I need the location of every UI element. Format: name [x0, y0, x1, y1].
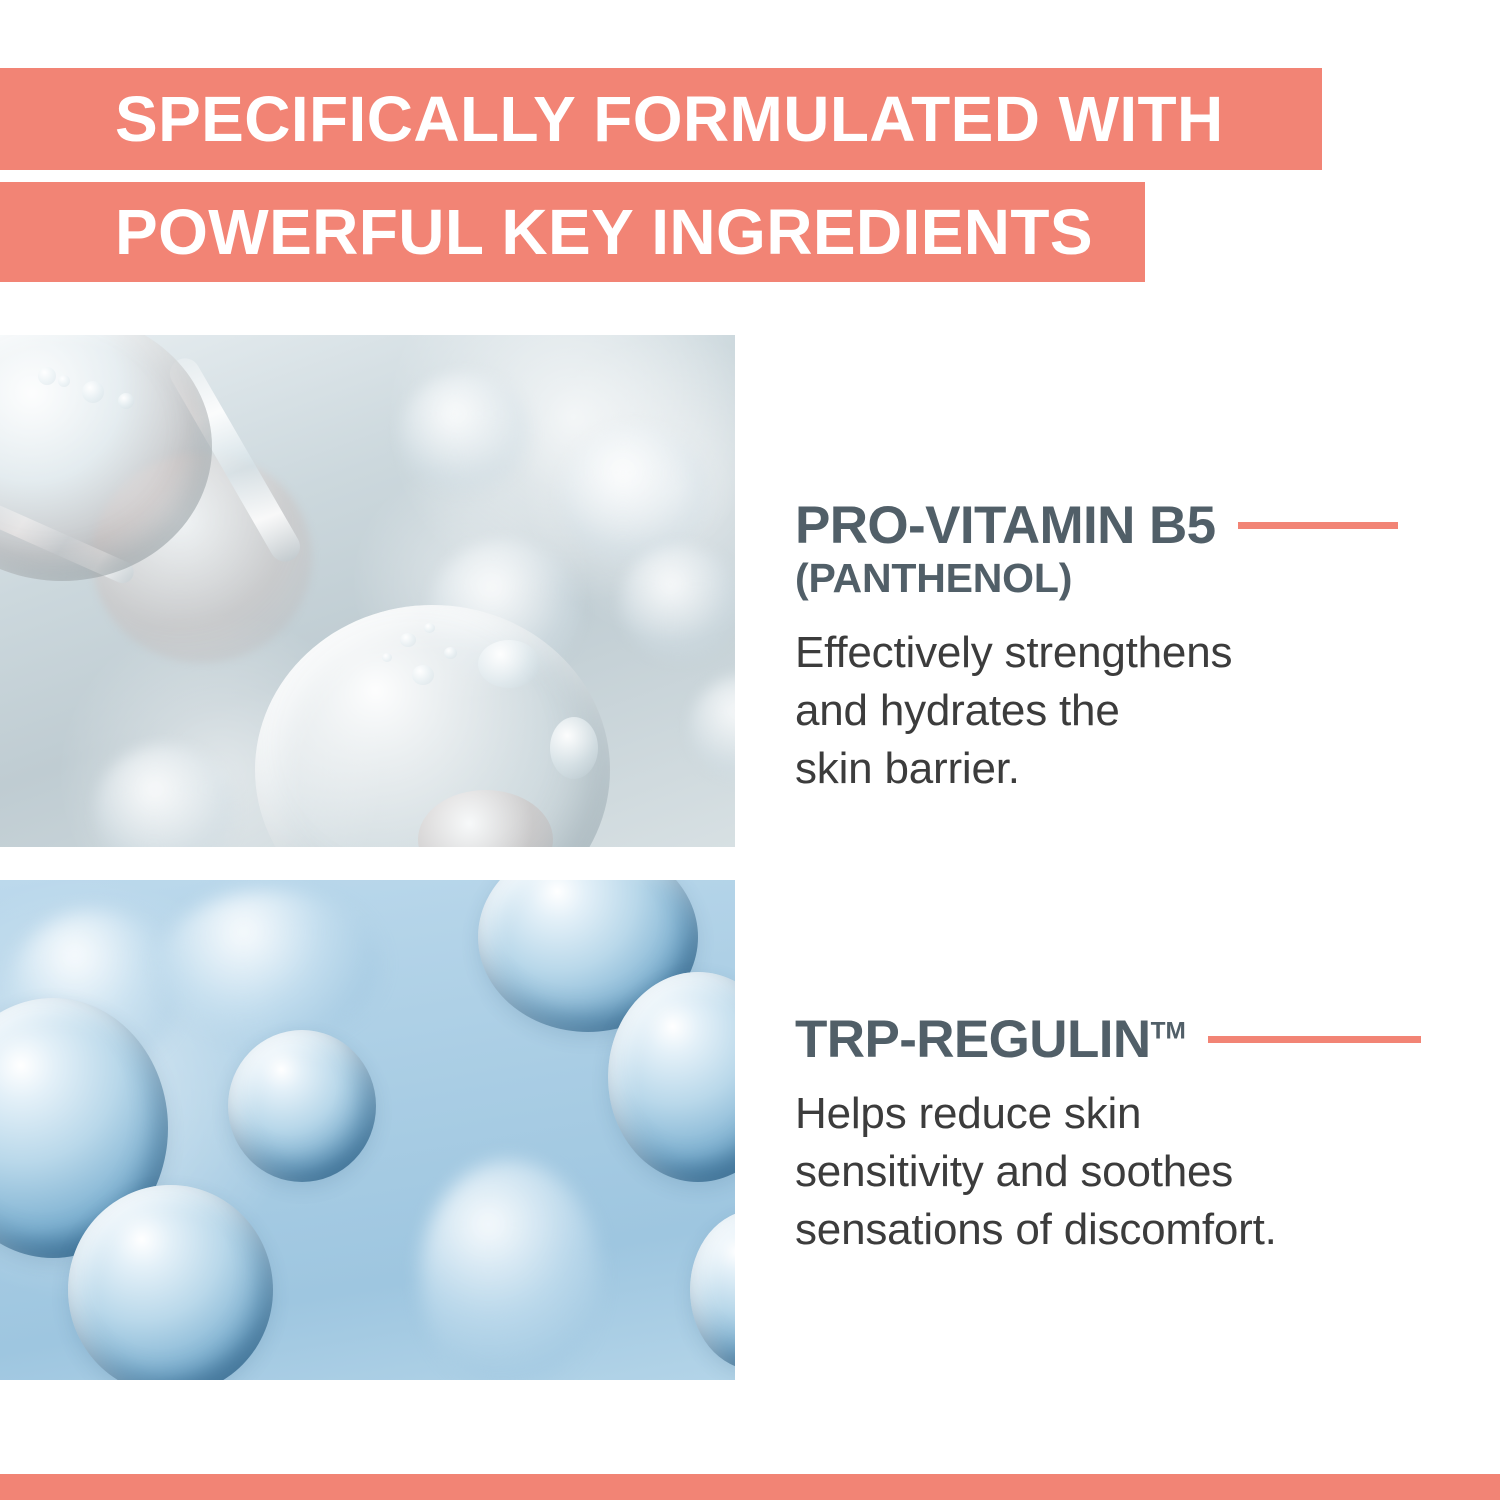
- bubble-dot: [400, 633, 416, 647]
- ingredient-heading: PRO-VITAMIN B5: [795, 498, 1216, 553]
- bubble-dot: [412, 665, 434, 685]
- trademark-icon: TM: [1151, 1017, 1186, 1044]
- blurred-droplet: [420, 1160, 600, 1380]
- bokeh-sphere: [400, 373, 530, 493]
- bubble-dot: [424, 623, 435, 633]
- bubble-dot: [550, 717, 598, 779]
- headline-banner-gap: [0, 170, 1500, 182]
- molecule-detail-dot: [38, 367, 56, 385]
- bokeh-sphere: [95, 745, 235, 847]
- heading-row: TRP-REGULINTM: [795, 1012, 1421, 1067]
- bokeh-sphere: [560, 425, 710, 565]
- ingredient-info-trp-regulin: TRP-REGULINTM Helps reduce skin sensitiv…: [795, 1012, 1421, 1259]
- accent-rule: [1238, 522, 1398, 529]
- molecule-detail-dot: [118, 393, 134, 409]
- heading-row: PRO-VITAMIN B5: [795, 498, 1398, 553]
- molecule-detail-dot: [58, 375, 70, 387]
- droplet: [68, 1185, 273, 1380]
- molecule-detail-dot: [82, 381, 104, 403]
- ingredient-image-trp-regulin: [0, 880, 735, 1380]
- headline-block: SPECIFICALLY FORMULATED WITH POWERFUL KE…: [0, 68, 1500, 282]
- headline-banner-line-2: POWERFUL KEY INGREDIENTS: [0, 182, 1145, 282]
- bokeh-sphere: [690, 675, 735, 780]
- bubble-dot: [382, 653, 392, 662]
- droplet: [690, 1210, 735, 1370]
- bubble-dot: [478, 640, 540, 688]
- ingredient-description: Helps reduce skin sensitivity and soothe…: [795, 1085, 1421, 1259]
- bokeh-sphere: [620, 545, 735, 660]
- ingredient-heading: TRP-REGULINTM: [795, 1012, 1186, 1067]
- droplet: [228, 1030, 376, 1182]
- ingredient-heading-text: TRP-REGULIN: [795, 1010, 1151, 1069]
- accent-rule: [1208, 1036, 1421, 1043]
- blurred-droplet: [160, 890, 380, 1040]
- footer-accent-bar: [0, 1474, 1500, 1500]
- headline-banner-line-1: SPECIFICALLY FORMULATED WITH: [0, 68, 1322, 170]
- ingredient-description: Effectively strengthens and hydrates the…: [795, 624, 1398, 798]
- ingredient-image-pro-vitamin-b5: [0, 335, 735, 847]
- ingredient-info-pro-vitamin-b5: PRO-VITAMIN B5 (PANTHENOL) Effectively s…: [795, 498, 1398, 798]
- ingredient-sub-heading: (PANTHENOL): [795, 555, 1398, 602]
- bubble-dot: [444, 647, 457, 659]
